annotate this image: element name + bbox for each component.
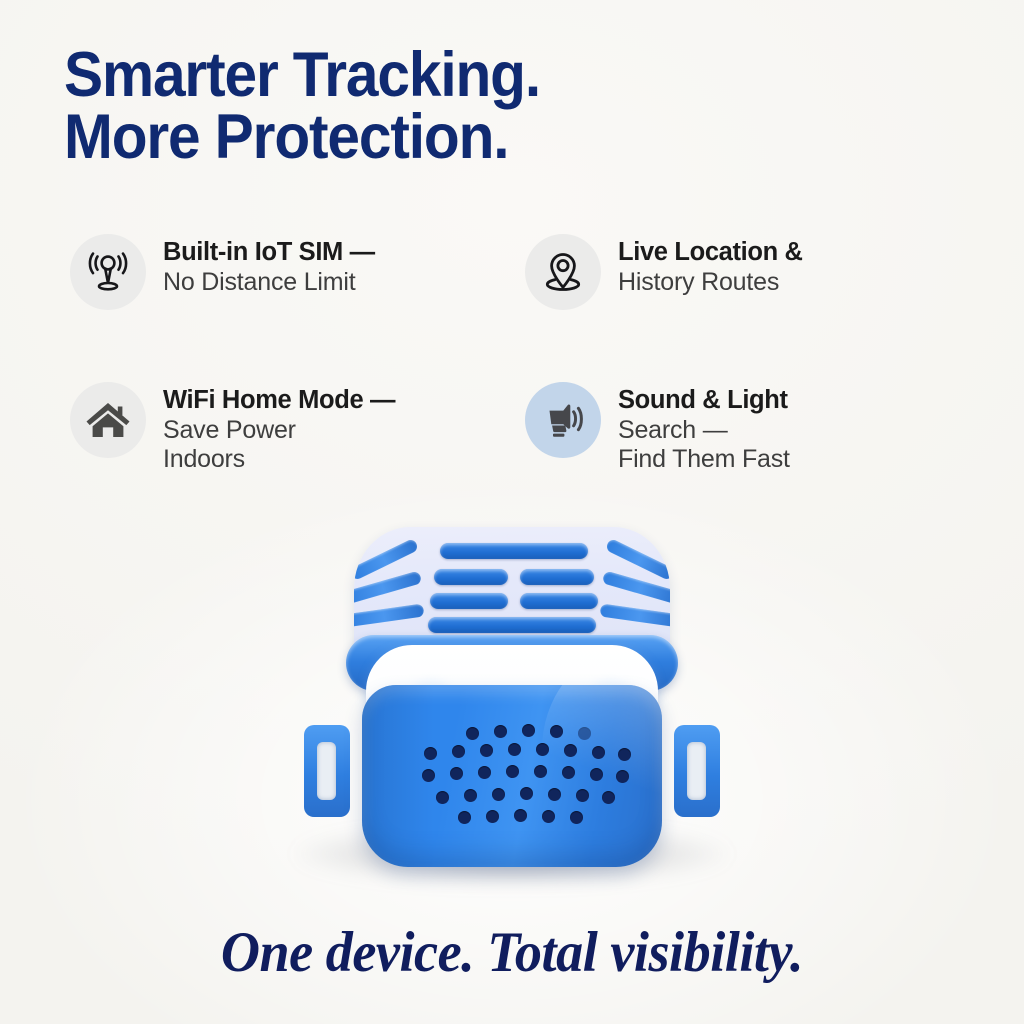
grille-dot xyxy=(492,788,505,801)
feature-grid: Built-in IoT SIM — No Distance Limit Liv… xyxy=(70,232,970,475)
grille-dot xyxy=(522,724,535,737)
feature-title: Built-in IoT SIM — xyxy=(163,238,375,268)
grille-dot xyxy=(520,787,533,800)
grille-dot xyxy=(618,748,631,761)
map-pin-icon xyxy=(525,234,601,310)
grille-dot xyxy=(424,747,437,760)
strap-loop-right xyxy=(674,725,720,817)
vent-slot xyxy=(434,569,508,585)
grille-dot xyxy=(562,766,575,779)
feature-title: WiFi Home Mode — xyxy=(163,386,395,416)
grille-dot xyxy=(548,788,561,801)
grille-dot xyxy=(494,725,507,738)
vent-slot xyxy=(430,593,508,609)
feature-subtitle: No Distance Limit xyxy=(163,268,375,298)
home-icon xyxy=(70,382,146,458)
vent-slot xyxy=(520,569,594,585)
grille-dot xyxy=(590,768,603,781)
page-title: Smarter Tracking. More Protection. xyxy=(64,44,771,169)
product-image xyxy=(0,505,1024,915)
feature-title: Live Location & xyxy=(618,238,803,268)
feature-text: Live Location & History Routes xyxy=(618,232,803,297)
grille-dot xyxy=(436,791,449,804)
feature-subtitle-line-1: Search — xyxy=(618,416,790,446)
vent-slot xyxy=(440,543,588,559)
grille-dot xyxy=(616,770,629,783)
feature-text: Sound & Light Search — Find Them Fast xyxy=(618,380,790,475)
feature-subtitle-line-1: Save Power xyxy=(163,416,395,446)
grille-dot xyxy=(514,809,527,822)
feature-subtitle: History Routes xyxy=(618,268,803,298)
grille-dot xyxy=(466,727,479,740)
grille-dot xyxy=(564,744,577,757)
cellular-antenna-icon xyxy=(70,234,146,310)
blue-pet-gps-tracker xyxy=(310,527,714,872)
grille-dot xyxy=(480,744,493,757)
feature-item-sound-light: Sound & Light Search — Find Them Fast xyxy=(525,380,970,475)
feature-item-live-location: Live Location & History Routes xyxy=(525,232,970,380)
grille-dot xyxy=(542,810,555,823)
speaker-grille xyxy=(362,685,662,867)
headline-line-2: More Protection. xyxy=(64,106,771,168)
vent-slot xyxy=(428,617,596,633)
tagline: One device. Total visibility. xyxy=(26,920,999,985)
grille-dot xyxy=(458,811,471,824)
grille-dot xyxy=(536,743,549,756)
grille-dot xyxy=(550,725,563,738)
grille-dot xyxy=(452,745,465,758)
grille-dot xyxy=(506,765,519,778)
vent-slot xyxy=(520,593,598,609)
feature-text: WiFi Home Mode — Save Power Indoors xyxy=(163,380,395,475)
grille-dot xyxy=(592,746,605,759)
grille-dot xyxy=(422,769,435,782)
cage-rail xyxy=(354,603,425,627)
strap-loop-left xyxy=(304,725,350,817)
feature-title: Sound & Light xyxy=(618,386,790,416)
tracker-body xyxy=(362,685,662,867)
grille-dot xyxy=(508,743,521,756)
feature-text: Built-in IoT SIM — No Distance Limit xyxy=(163,232,375,297)
grille-dot xyxy=(570,811,583,824)
headline-line-1: Smarter Tracking. xyxy=(64,40,540,110)
grille-dot xyxy=(486,810,499,823)
grille-dot xyxy=(478,766,491,779)
grille-dot xyxy=(534,765,547,778)
cage-rail xyxy=(599,603,670,627)
feature-subtitle-line-2: Indoors xyxy=(163,445,395,475)
speaker-sound-icon xyxy=(525,382,601,458)
grille-dot xyxy=(578,727,591,740)
grille-dot xyxy=(464,789,477,802)
feature-subtitle-line-2: Find Them Fast xyxy=(618,445,790,475)
feature-item-iot-sim: Built-in IoT SIM — No Distance Limit xyxy=(70,232,525,380)
feature-item-wifi-home-mode: WiFi Home Mode — Save Power Indoors xyxy=(70,380,525,475)
grille-dot xyxy=(450,767,463,780)
grille-dot xyxy=(602,791,615,804)
grille-dot xyxy=(576,789,589,802)
